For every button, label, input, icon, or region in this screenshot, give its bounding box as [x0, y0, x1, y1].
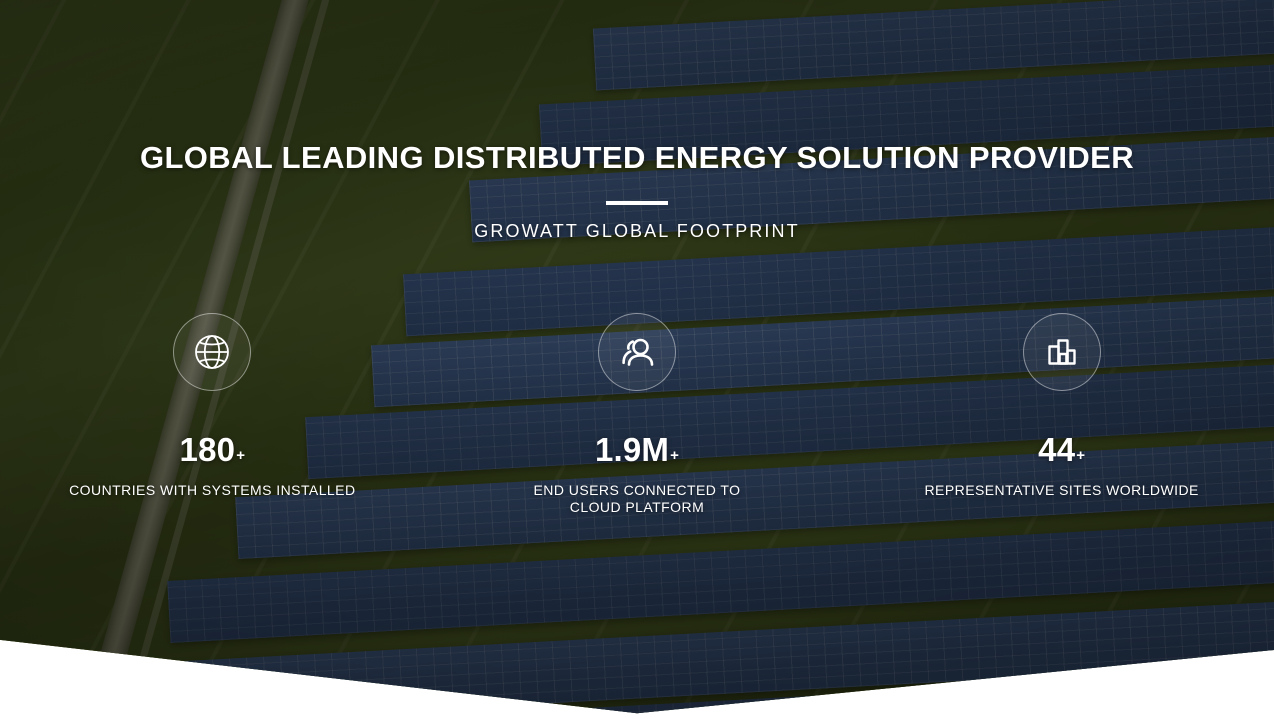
page-title: GLOBAL LEADING DISTRIBUTED ENERGY SOLUTI… [0, 141, 1274, 175]
hero-section: GLOBAL LEADING DISTRIBUTED ENERGY SOLUTI… [0, 0, 1274, 719]
stat-number: 180 [180, 431, 236, 468]
title-divider [606, 201, 668, 205]
stat-end-users: 1.9M+ END USERS CONNECTED TO CLOUD PLATF… [425, 313, 850, 515]
buildings-icon [1023, 313, 1101, 391]
globe-icon [173, 313, 251, 391]
stat-suffix: + [670, 447, 679, 464]
stat-value: 1.9M+ [595, 433, 679, 466]
stat-value: 44+ [1038, 433, 1085, 466]
users-icon [598, 313, 676, 391]
stat-number: 1.9M [595, 431, 669, 468]
stat-number: 44 [1038, 431, 1075, 468]
hero-content: GLOBAL LEADING DISTRIBUTED ENERGY SOLUTI… [0, 0, 1274, 719]
stat-suffix: + [236, 447, 245, 464]
stat-label: COUNTRIES WITH SYSTEMS INSTALLED [69, 482, 355, 499]
stat-label: END USERS CONNECTED TO CLOUD PLATFORM [507, 482, 767, 515]
stat-representative-sites: 44+ REPRESENTATIVE SITES WORLDWIDE [849, 313, 1274, 515]
page-subtitle: GROWATT GLOBAL FOOTPRINT [0, 221, 1274, 242]
stat-value: 180+ [180, 433, 246, 466]
stat-suffix: + [1076, 447, 1085, 464]
statistics-row: 180+ COUNTRIES WITH SYSTEMS INSTALLED 1.… [0, 313, 1274, 515]
stat-label: REPRESENTATIVE SITES WORLDWIDE [925, 482, 1199, 499]
stat-countries: 180+ COUNTRIES WITH SYSTEMS INSTALLED [0, 313, 425, 515]
